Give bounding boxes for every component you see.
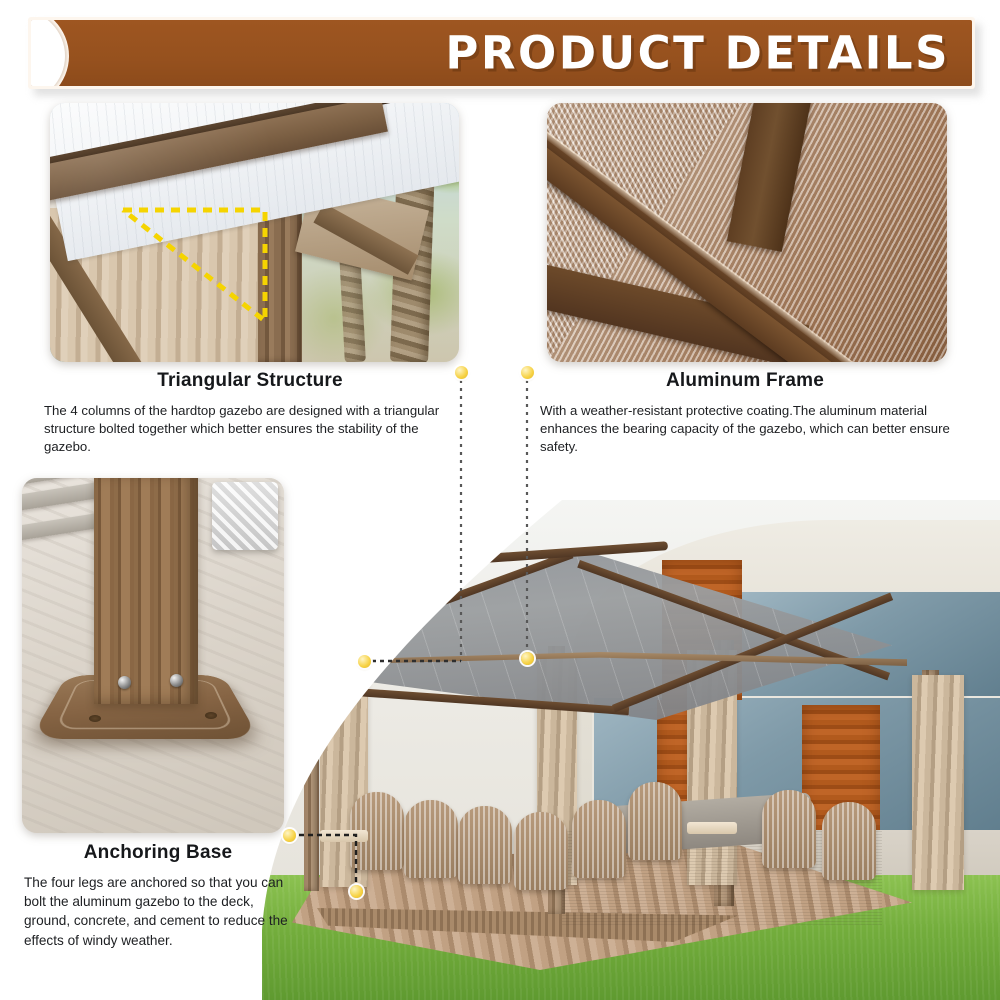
dining-chair — [514, 812, 568, 890]
dining-chair — [762, 790, 816, 868]
callout-dot-aluminum-target — [521, 652, 534, 665]
feature-description: The four legs are anchored so that you c… — [24, 873, 292, 950]
callout-dot-anchor-target — [350, 885, 363, 898]
curtain-tieback — [687, 822, 737, 834]
dining-chair — [572, 800, 626, 878]
hero-image-gazebo — [262, 500, 1000, 1000]
caption-aluminum-frame: Aluminum Frame With a weather-resistant … — [540, 370, 950, 456]
feature-title: Anchoring Base — [24, 842, 292, 865]
curtain-tieback — [320, 830, 368, 842]
gazebo-post — [304, 665, 319, 891]
page-title: PRODUCT DETAILS — [445, 27, 950, 80]
gazebo-post — [94, 478, 198, 704]
feature-title: Triangular Structure — [44, 370, 456, 393]
header-banner: PRODUCT DETAILS — [28, 17, 975, 89]
feature-description: With a weather-resistant protective coat… — [540, 402, 950, 457]
feature-description: The 4 columns of the hardtop gazebo are … — [44, 402, 456, 457]
callout-dot-triangular-target — [358, 655, 371, 668]
product-details-infographic: PRODUCT DETAILS — [0, 0, 1000, 1000]
dining-chair — [404, 800, 458, 878]
anchor-hole — [89, 715, 101, 722]
dining-chair — [822, 802, 876, 880]
feature-image-anchoring-base — [22, 478, 284, 833]
triangle-highlight-overlay — [50, 103, 459, 362]
dining-chair — [458, 806, 512, 884]
anchor-bolt — [170, 674, 183, 687]
caption-anchoring-base: Anchoring Base The four legs are anchore… — [24, 842, 292, 950]
gazebo-curtain — [912, 675, 964, 890]
callout-dot-aluminum-top — [521, 366, 534, 379]
banner-fill: PRODUCT DETAILS — [31, 20, 972, 86]
anchor-hole — [205, 712, 217, 719]
dining-chair — [628, 782, 682, 860]
caption-triangular-structure: Triangular Structure The 4 columns of th… — [44, 370, 456, 456]
anchor-bolt — [118, 676, 131, 689]
feature-image-aluminum-frame — [547, 103, 947, 362]
callout-dot-anchor-origin — [283, 829, 296, 842]
feature-title: Aluminum Frame — [540, 370, 950, 393]
feature-image-triangular-structure — [50, 103, 459, 362]
callout-dot-triangular-top — [455, 366, 468, 379]
